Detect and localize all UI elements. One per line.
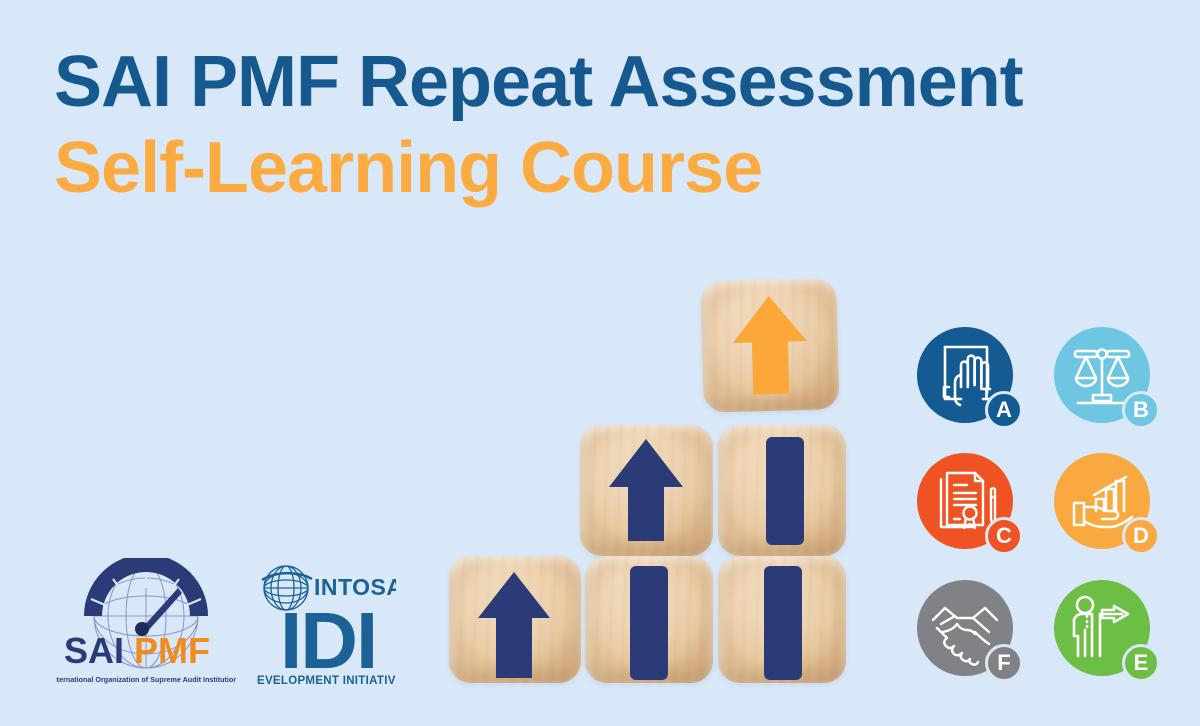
sai-pmf-logo-pmf: PMF [134, 630, 210, 671]
bar-icon [718, 556, 846, 683]
bar-icon [585, 556, 713, 683]
domain-badge-e: E [1122, 644, 1160, 682]
intosai-idi-logo: INTOSAI IDI DEVELOPMENT INITIATIVE [256, 560, 396, 690]
sai-pmf-logo: SAI PMF International Organization of Su… [56, 558, 236, 690]
title-block: SAI PMF Repeat Assessment Self-Learning … [54, 44, 1154, 208]
domain-badge-b: B [1122, 391, 1160, 429]
cube-bottom-right-navy-bar [718, 556, 846, 683]
cube-top-orange-arrow [700, 278, 839, 413]
arrow-up-icon [700, 278, 839, 413]
sai-pmf-logo-sai: SAI [64, 630, 124, 671]
intosai-idi-logo-idi: IDI [280, 596, 376, 685]
domain-icon-d[interactable]: D [1054, 453, 1150, 549]
bar-icon [718, 425, 846, 556]
arrow-up-icon [580, 425, 713, 556]
arrow-up-icon [449, 556, 581, 683]
sai-pmf-logo-tagline: International Organization of Supreme Au… [56, 675, 236, 684]
domain-icon-c[interactable]: C [917, 453, 1013, 549]
cube-middle-left-navy-arrow [580, 425, 713, 556]
domain-icon-e[interactable]: E [1054, 580, 1150, 676]
domain-icon-a[interactable]: A [917, 327, 1013, 423]
cube-middle-right-navy-bar [718, 425, 846, 556]
banner-root: SAI PMF Repeat Assessment Self-Learning … [0, 0, 1200, 726]
domain-badge-d: D [1122, 517, 1160, 555]
domain-icon-b[interactable]: B [1054, 327, 1150, 423]
domain-badge-c: C [985, 517, 1023, 555]
domain-badge-f: F [985, 644, 1023, 682]
cube-bottom-middle-navy-bar [585, 556, 713, 683]
domain-icon-f[interactable]: F [917, 580, 1013, 676]
page-title: SAI PMF Repeat Assessment [54, 44, 1154, 122]
page-subtitle: Self-Learning Course [54, 130, 1154, 208]
intosai-idi-logo-initiative: DEVELOPMENT INITIATIVE [256, 675, 396, 687]
sai-pmf-logo-art: SAI PMF International Organization of Su… [56, 558, 236, 690]
domain-badge-a: A [985, 391, 1023, 429]
cube-bottom-left-navy-arrow [449, 556, 581, 683]
intosai-idi-logo-art: INTOSAI IDI DEVELOPMENT INITIATIVE [256, 560, 396, 690]
